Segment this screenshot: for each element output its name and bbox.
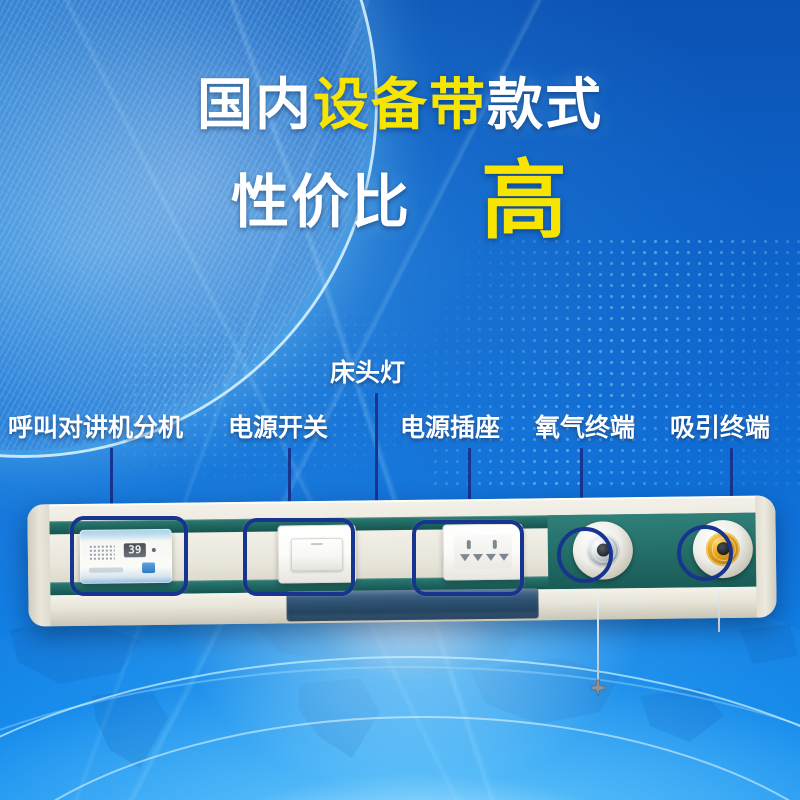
- callout-label-oxygen-terminal: 氧气终端: [535, 415, 635, 440]
- headline-block: 国内设备带款式 性价比高: [0, 78, 800, 244]
- headline-seg-1: 国内: [197, 73, 313, 138]
- callout-label-power-switch: 电源开关: [228, 415, 328, 440]
- highlight-marker-power-socket: [412, 520, 524, 596]
- halftone-dot-pattern-left: [120, 300, 450, 480]
- highlight-marker-oxygen-terminal: [557, 527, 613, 583]
- poster-canvas: 国内设备带款式 性价比高 呼叫对讲机分机 电源开关 床头灯 电源插座 氧气终端 …: [0, 0, 800, 800]
- halftone-dot-pattern-right: [430, 236, 800, 486]
- panel-end-cap-left: [27, 504, 50, 626]
- callout-label-bed-lamp: 床头灯: [330, 360, 405, 385]
- highlight-marker-intercom: [70, 516, 188, 596]
- highlight-marker-power-switch: [243, 518, 355, 596]
- cross-pendant-icon: [588, 678, 608, 698]
- panel-end-cap-right: [755, 495, 776, 617]
- headline-seg-2: 设备带: [313, 73, 487, 138]
- headline-accent-word: 高: [481, 151, 569, 251]
- callout-label-suction-terminal: 吸引终端: [670, 415, 770, 440]
- headline-seg-3: 款式: [487, 73, 603, 138]
- suction-hose-cord: [718, 590, 720, 632]
- callout-label-power-socket: 电源插座: [400, 415, 500, 440]
- headline-subtitle: 性价比: [231, 168, 411, 236]
- highlight-marker-suction-terminal: [677, 525, 733, 581]
- headline-line-2: 性价比高: [0, 158, 800, 244]
- oxygen-hose-cord: [597, 596, 599, 684]
- headline-line-1: 国内设备带款式: [0, 78, 800, 134]
- callout-label-intercom: 呼叫对讲机分机: [8, 415, 183, 440]
